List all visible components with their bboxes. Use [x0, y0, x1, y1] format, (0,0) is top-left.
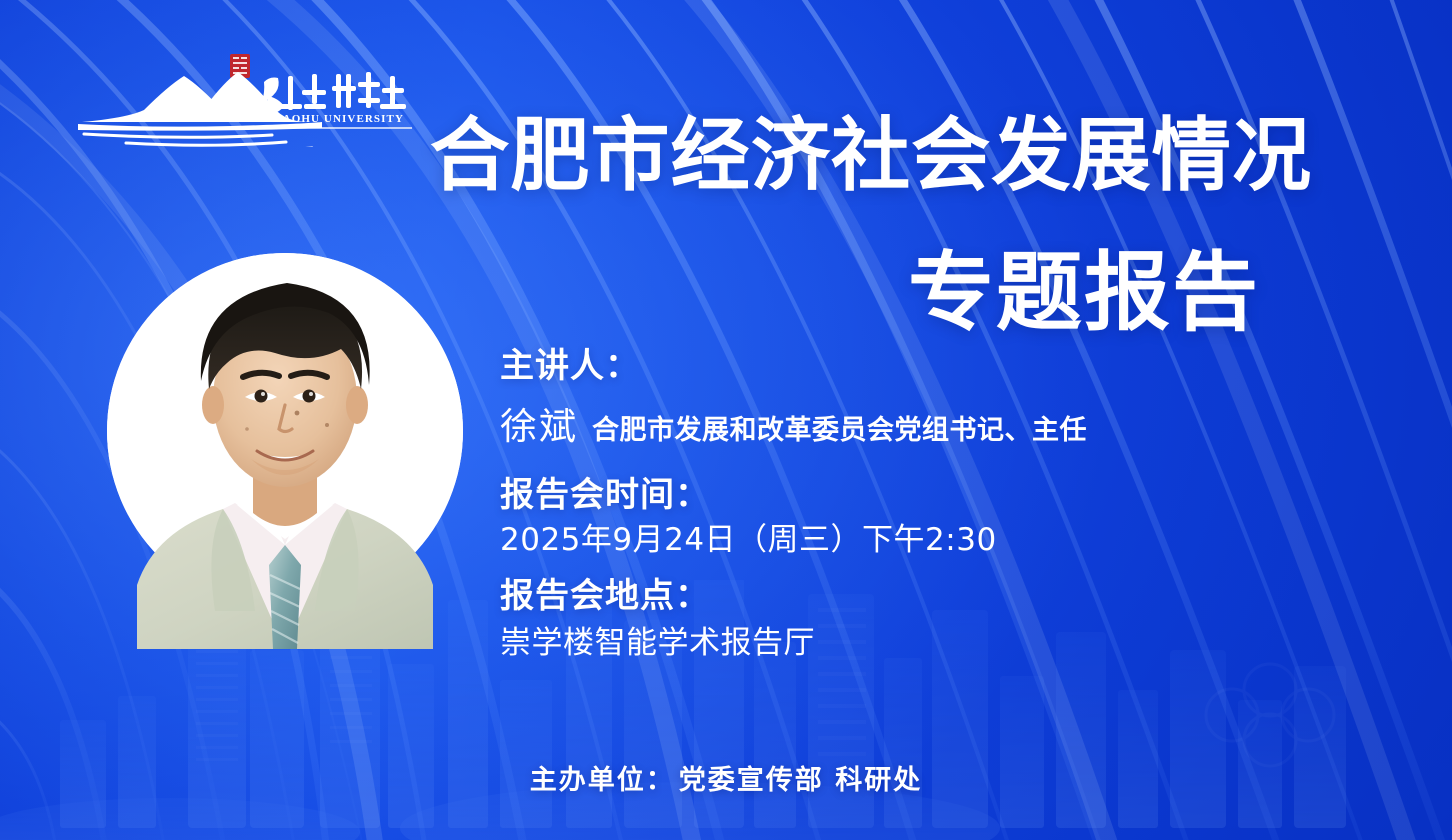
logo-english-text: CHAOHU UNIVERSITY [264, 113, 404, 125]
place-label: 报告会地点： [500, 575, 1260, 618]
event-details: 主讲人： 徐斌 合肥市发展和改革委员会党组书记、主任 报告会时间： 2025年9… [500, 345, 1260, 664]
organizer-footer: 主办单位：党委宣传部 科研处 [0, 758, 1452, 797]
speaker-name: 徐斌 [500, 396, 578, 450]
portrait-image [97, 213, 473, 649]
speaker-label: 主讲人： [500, 345, 1260, 388]
page-subtitle: 专题报告 [908, 250, 1260, 338]
place-value: 崇学楼智能学术报告厅 [500, 623, 1260, 664]
organizer-label: 主办单位： [530, 765, 675, 796]
time-value: 2025年9月24日（周三）下午2:30 [500, 520, 1260, 561]
page-title: 合肥市经济社会发展情况 [430, 115, 1351, 197]
chaohu-university-logo: CHAOHU UNIVERSITY [72, 52, 417, 147]
time-label: 报告会时间： [500, 474, 1260, 517]
speaker-row: 徐斌 合肥市发展和改革委员会党组书记、主任 [500, 396, 1260, 450]
organizer-value: 党委宣传部 科研处 [679, 765, 922, 796]
event-poster: CHAOHU UNIVERSITY [0, 0, 1452, 840]
speaker-portrait [107, 253, 463, 609]
speaker-position: 合肥市发展和改革委员会党组书记、主任 [592, 408, 1087, 447]
